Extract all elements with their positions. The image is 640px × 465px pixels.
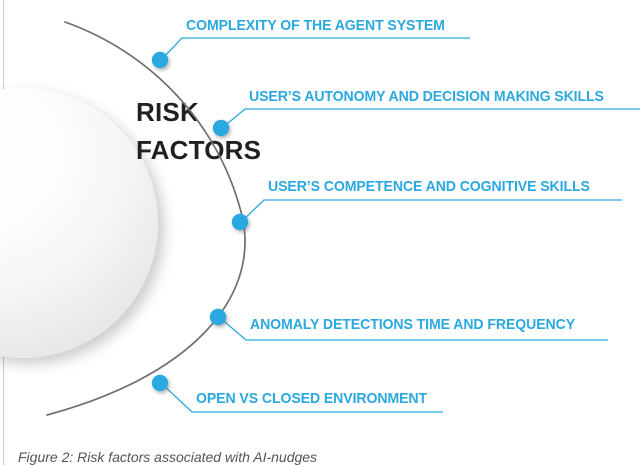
node-dot-environment[interactable] <box>152 375 168 391</box>
main-arc <box>47 22 245 415</box>
branch-label-environment: OPEN VS CLOSED ENVIRONMENT <box>196 390 427 407</box>
node-dot-competence[interactable] <box>232 214 248 230</box>
leader-line-complexity <box>161 38 470 60</box>
risk-factors-figure: RISK FACTORS COMPLEXITY OF THE AGENT SYS… <box>0 0 640 465</box>
node-dot-complexity[interactable] <box>152 52 168 68</box>
branch-label-complexity: COMPLEXITY OF THE AGENT SYSTEM <box>186 17 445 34</box>
node-dot-autonomy[interactable] <box>213 120 229 136</box>
branch-label-anomaly: ANOMALY DETECTIONS TIME AND FREQUENCY <box>250 316 575 333</box>
figure-caption: Figure 2: Risk factors associated with A… <box>18 449 317 465</box>
branch-label-competence: USER’S COMPETENCE AND COGNITIVE SKILLS <box>268 178 590 195</box>
leader-line-autonomy <box>222 109 640 128</box>
branch-label-autonomy: USER’S AUTONOMY AND DECISION MAKING SKIL… <box>249 88 604 105</box>
node-dot-anomaly[interactable] <box>210 309 226 325</box>
leader-line-competence <box>241 200 622 222</box>
